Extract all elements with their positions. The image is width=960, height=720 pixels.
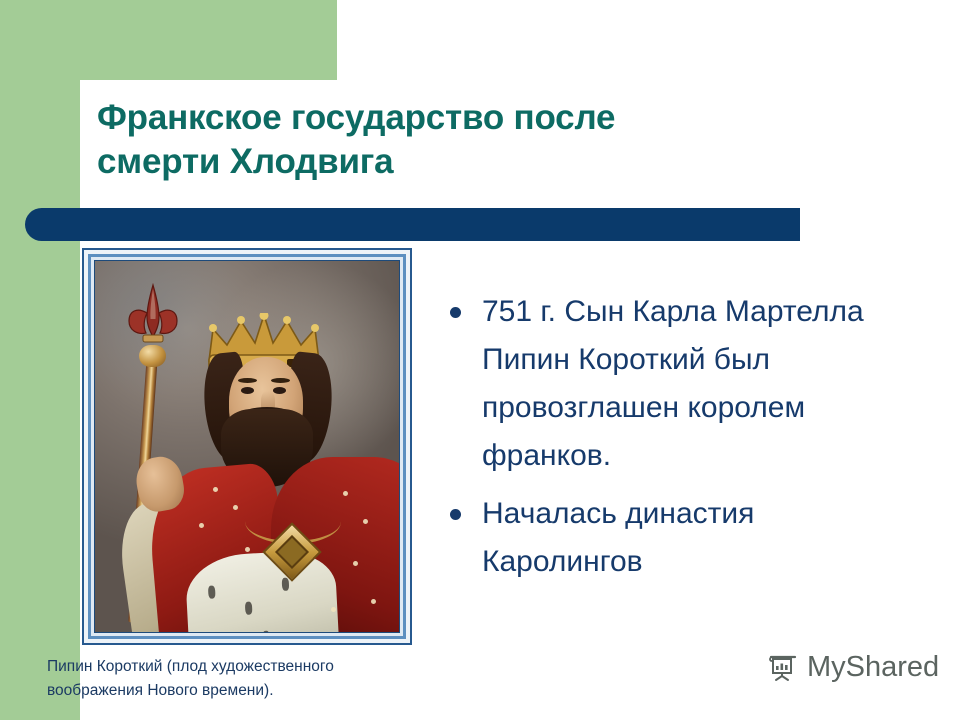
slide-title: Франкское государство после смерти Хлодв… <box>97 96 797 184</box>
portrait-eyebrow-left <box>238 378 257 383</box>
portrait-eyebrow-right <box>271 378 290 383</box>
ermine-spot <box>282 578 290 591</box>
watermark-label: MyShared <box>807 651 939 684</box>
robe-stud <box>343 491 348 496</box>
bullet-text: 751 г. Сын Карла Мартелла Пипин Короткий… <box>482 295 864 472</box>
robe-stud <box>233 505 238 510</box>
presentation-slide: Франкское государство после смерти Хлодв… <box>0 0 960 720</box>
portrait-image-inner-border <box>88 254 406 639</box>
image-caption: Пипин Короткий (плод художественного воо… <box>47 655 477 703</box>
slide-title-line-1: Франкское государство после <box>97 96 797 140</box>
image-caption-line-2: воображения Нового времени). <box>47 679 477 703</box>
ermine-spot <box>245 602 253 615</box>
ermine-spot <box>262 631 270 633</box>
robe-stud <box>353 561 358 566</box>
bullet-text: Началась династия Каролингов <box>482 497 754 578</box>
bullet-dot-icon <box>450 509 461 520</box>
robe-stud <box>371 599 376 604</box>
portrait-eye-left <box>241 387 254 394</box>
image-caption-line-1: Пипин Короткий (плод художественного <box>47 655 477 679</box>
robe-stud <box>213 487 218 492</box>
bullet-dot-icon <box>450 307 461 318</box>
ermine-spot <box>208 585 216 598</box>
green-left-strip <box>0 0 80 720</box>
robe-stud <box>363 519 368 524</box>
robe-stud <box>245 547 250 552</box>
green-top-block <box>0 0 337 80</box>
portrait-image-frame <box>82 248 412 645</box>
list-item: 751 г. Сын Карла Мартелла Пипин Короткий… <box>448 288 906 480</box>
presentation-board-icon <box>766 650 800 684</box>
portrait-eye-right <box>273 387 286 394</box>
slide-title-line-2: смерти Хлодвига <box>97 140 797 184</box>
myshared-watermark: MyShared <box>766 650 939 684</box>
fleur-de-lis-icon <box>123 283 183 353</box>
bullet-list: 751 г. Сын Карла Мартелла Пипин Короткий… <box>448 288 906 596</box>
list-item: Началась династия Каролингов <box>448 490 906 586</box>
portrait-painting-pepin-the-short <box>94 260 400 633</box>
navy-divider-bar <box>25 208 800 241</box>
robe-stud <box>199 523 204 528</box>
robe-stud <box>331 607 336 612</box>
